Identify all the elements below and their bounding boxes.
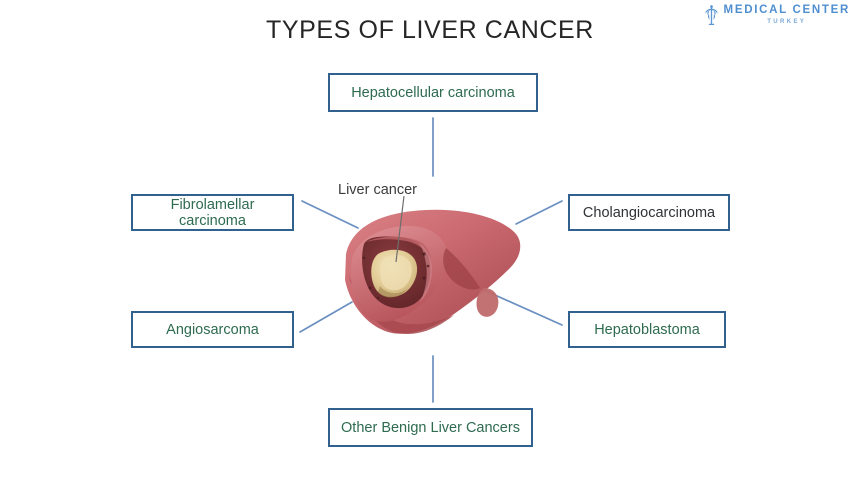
node-other-benign-liver-cancers[interactable]: Other Benign Liver Cancers bbox=[328, 408, 533, 447]
node-fibrolamellar-carcinoma[interactable]: Fibrolamellar carcinoma bbox=[131, 194, 294, 231]
node-cholangiocarcinoma[interactable]: Cholangiocarcinoma bbox=[568, 194, 730, 231]
node-angiosarcoma[interactable]: Angiosarcoma bbox=[131, 311, 294, 348]
liver-cancer-callout-label: Liver cancer bbox=[338, 182, 417, 198]
infographic-canvas: TYPES OF LIVER CANCER MEDICAL CENTER bbox=[0, 0, 860, 480]
liver-illustration bbox=[334, 196, 530, 354]
node-hepatocellular-carcinoma[interactable]: Hepatocellular carcinoma bbox=[328, 73, 538, 112]
node-hepatoblastoma[interactable]: Hepatoblastoma bbox=[568, 311, 726, 348]
